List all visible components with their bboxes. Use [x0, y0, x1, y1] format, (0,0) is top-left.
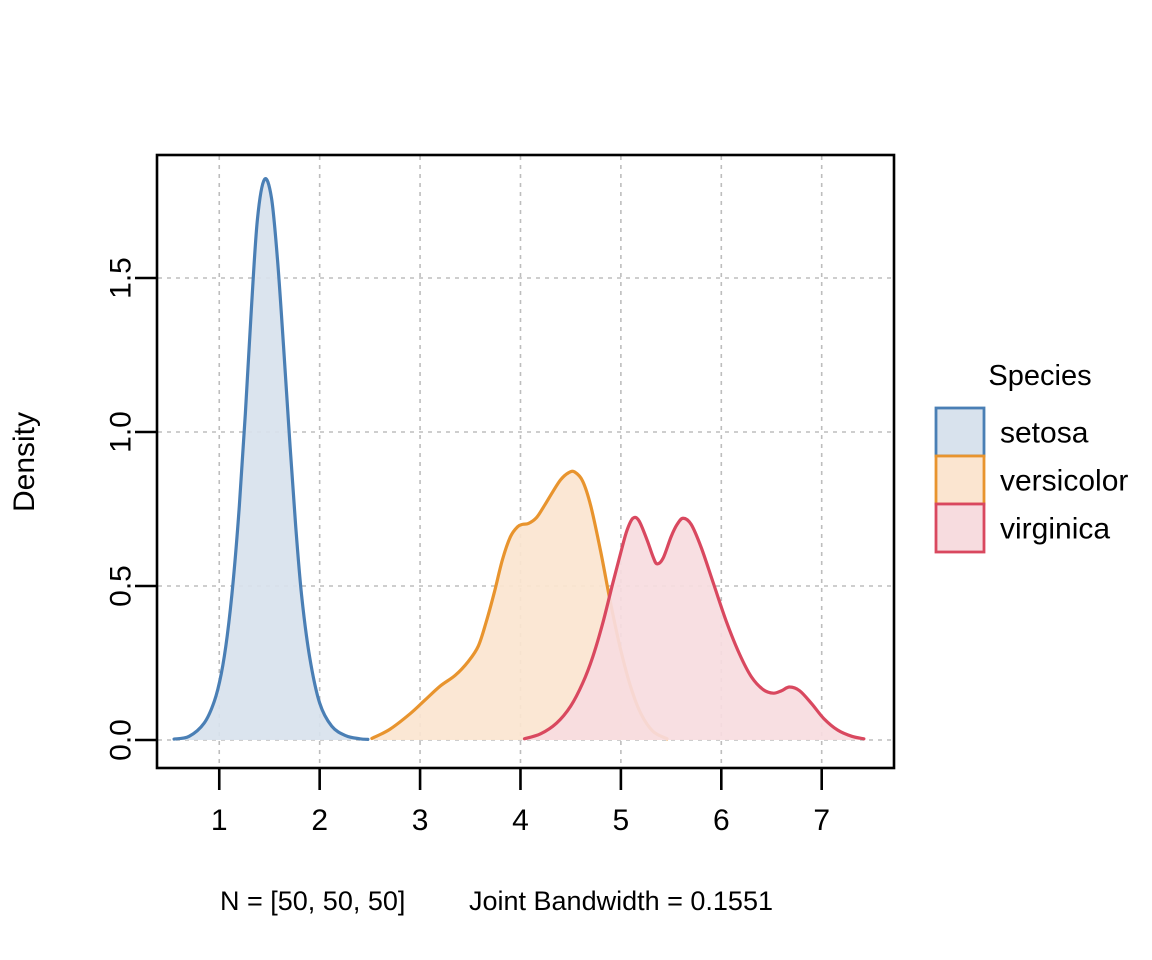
- x-tick-label-1: 1: [211, 804, 228, 837]
- x-tick-label-2: 2: [311, 804, 328, 837]
- legend-item-versicolor[interactable]: versicolor: [936, 456, 1128, 504]
- y-tick-label-1.5: 1.5: [105, 257, 138, 299]
- density-plot-page: 1234567 0.00.51.01.5 Density N = [50, 50…: [0, 0, 1152, 960]
- legend-swatch-virginica: [936, 504, 984, 552]
- x-tick-label-7: 7: [813, 804, 830, 837]
- y-axis-ticks: [135, 278, 157, 740]
- x-tick-label-3: 3: [412, 804, 429, 837]
- density-plot-figure: 1234567 0.00.51.01.5 Density N = [50, 50…: [0, 0, 1152, 960]
- y-axis-title: Density: [8, 412, 41, 512]
- legend-swatch-versicolor: [936, 456, 984, 504]
- legend-label-setosa: setosa: [1000, 417, 1089, 450]
- y-tick-label-1.0: 1.0: [105, 411, 138, 453]
- density-series-setosa: [174, 179, 368, 740]
- legend-entries[interactable]: setosaversicolorvirginica: [936, 408, 1128, 552]
- legend-swatch-setosa: [936, 408, 984, 456]
- density-series-group: [174, 179, 864, 740]
- x-axis-ticks: [219, 768, 821, 790]
- x-axis-tick-labels: 1234567: [211, 804, 830, 837]
- legend-label-virginica: virginica: [1000, 513, 1110, 546]
- y-tick-label-0.0: 0.0: [105, 719, 138, 761]
- caption-bandwidth: Joint Bandwidth = 0.1551: [469, 886, 773, 916]
- legend-label-versicolor: versicolor: [1000, 465, 1128, 498]
- y-axis-tick-labels: 0.00.51.01.5: [105, 257, 138, 761]
- x-tick-label-6: 6: [713, 804, 730, 837]
- legend-item-virginica[interactable]: virginica: [936, 504, 1110, 552]
- caption-n: N = [50, 50, 50]: [220, 886, 405, 916]
- density-fill-setosa: [174, 179, 368, 740]
- legend-item-setosa[interactable]: setosa: [936, 408, 1089, 456]
- x-tick-label-5: 5: [613, 804, 630, 837]
- y-tick-label-0.5: 0.5: [105, 565, 138, 607]
- x-tick-label-4: 4: [512, 804, 529, 837]
- legend-title: Species: [988, 360, 1091, 392]
